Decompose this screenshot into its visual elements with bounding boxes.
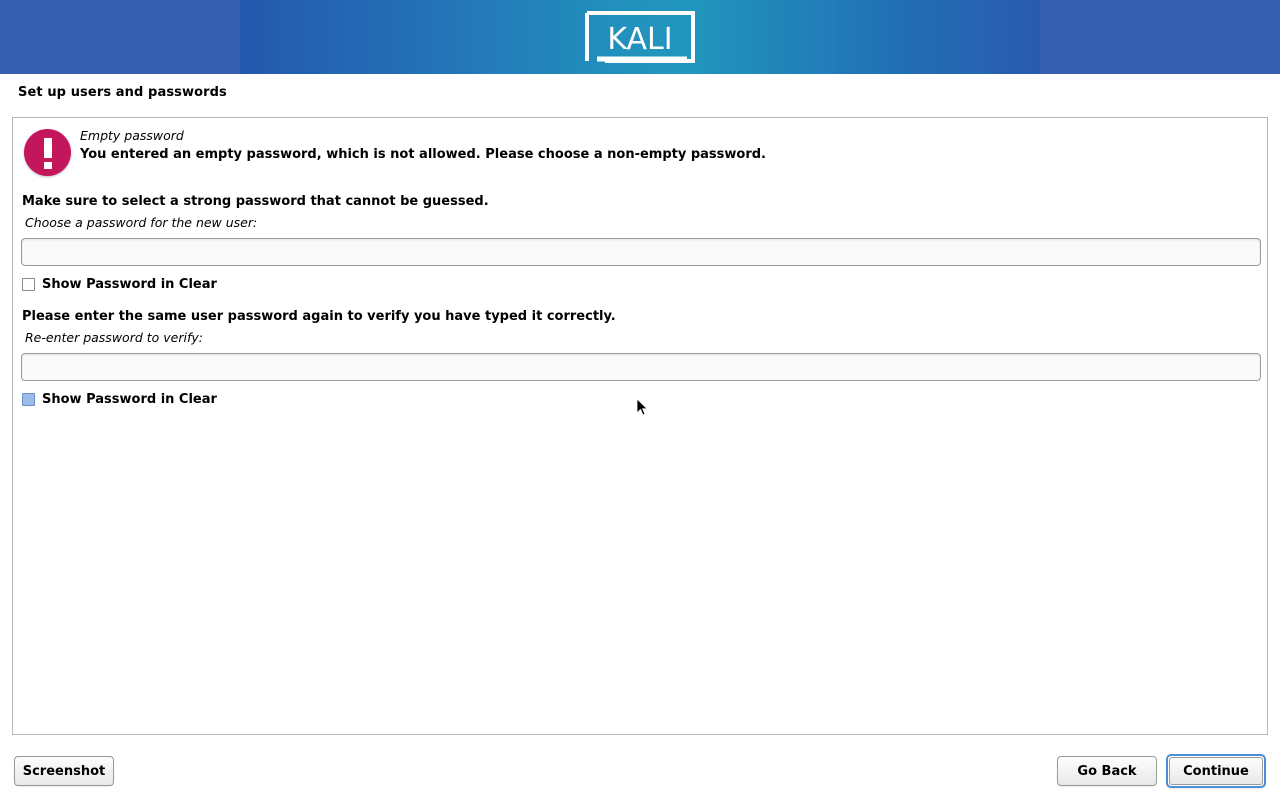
alert-title: Empty password [80, 128, 184, 143]
show-password-checkbox-label-1: Show Password in Clear [42, 277, 217, 292]
verify-password-input[interactable] [21, 353, 1261, 381]
screenshot-button[interactable]: Screenshot [14, 756, 114, 786]
kali-logo-text: KALI [607, 22, 672, 57]
verify-section-heading: Please enter the same user password agai… [22, 309, 616, 324]
password-input[interactable] [21, 238, 1261, 266]
go-back-button-label: Go Back [1077, 764, 1136, 779]
show-password-checkbox-2[interactable] [22, 393, 35, 406]
verify-field-label: Re-enter password to verify: [25, 330, 203, 345]
error-exclamation-icon [24, 129, 71, 176]
show-password-checkbox-row-2[interactable]: Show Password in Clear [22, 392, 217, 407]
show-password-checkbox-row-1[interactable]: Show Password in Clear [22, 277, 217, 292]
kali-logo-icon: KALI [583, 9, 697, 65]
kali-banner: KALI [0, 0, 1280, 74]
alert-message: You entered an empty password, which is … [80, 147, 766, 162]
go-back-button[interactable]: Go Back [1057, 756, 1157, 786]
content-frame: Empty password You entered an empty pass… [12, 117, 1268, 735]
show-password-checkbox-1[interactable] [22, 278, 35, 291]
screenshot-button-label: Screenshot [23, 764, 106, 779]
continue-button[interactable]: Continue [1166, 754, 1266, 788]
continue-button-label: Continue [1183, 764, 1249, 779]
alert-banner: Empty password You entered an empty pass… [13, 118, 1267, 188]
password-section-heading: Make sure to select a strong password th… [22, 194, 489, 209]
page-title: Set up users and passwords [18, 85, 227, 100]
show-password-checkbox-label-2: Show Password in Clear [42, 392, 217, 407]
password-field-label: Choose a password for the new user: [25, 215, 257, 230]
